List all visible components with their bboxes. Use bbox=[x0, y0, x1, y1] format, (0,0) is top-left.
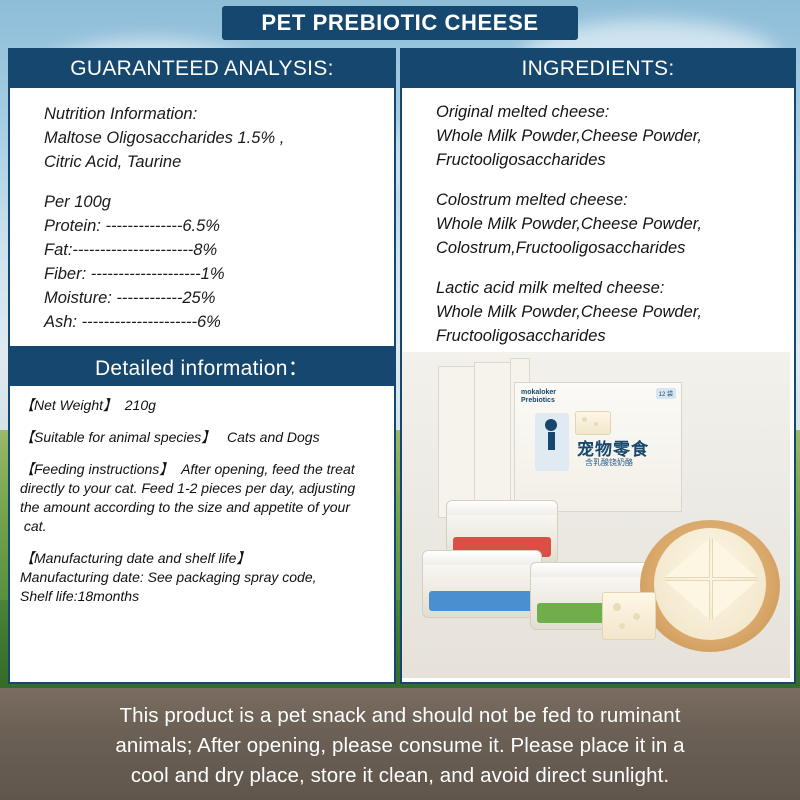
page-title: PET PREBIOTIC CHEESE bbox=[222, 6, 578, 40]
footer-line: This product is a pet snack and should n… bbox=[119, 701, 680, 731]
cheese-piece bbox=[575, 411, 611, 435]
guaranteed-analysis-heading: GUARANTEED ANALYSIS: bbox=[70, 57, 334, 81]
dog-icon bbox=[545, 419, 557, 431]
tin-lid bbox=[423, 551, 541, 565]
ingredient-line: Colostrum,Fructooligosaccharides bbox=[436, 236, 784, 260]
detail-item-lead: 【Feeding instructions】 After opening, fe… bbox=[20, 460, 384, 479]
ingredients-header: INGREDIENTS: bbox=[402, 50, 794, 88]
ingredient-line: Fructooligosaccharides bbox=[436, 324, 784, 348]
nutrient-row: Moisture: ------------25% bbox=[44, 286, 384, 310]
page-title-text: PET PREBIOTIC CHEESE bbox=[261, 10, 538, 36]
detailed-information-header: Detailed information： bbox=[10, 348, 394, 386]
ingredient-group-title: Colostrum melted cheese: bbox=[436, 188, 784, 212]
detailed-information-panel: Detailed information： 【Net Weight】 210g … bbox=[8, 346, 396, 684]
package-brand-text: mokaloker bbox=[521, 389, 556, 396]
detail-item: 【Suitable for animal species】 Cats and D… bbox=[20, 428, 384, 447]
detailed-information-heading: Detailed information： bbox=[95, 352, 309, 382]
footer-warning: This product is a pet snack and should n… bbox=[0, 692, 800, 800]
ingredient-group: Lactic acid milk melted cheese: Whole Mi… bbox=[436, 276, 784, 348]
detail-item: 【Net Weight】 210g bbox=[20, 396, 384, 415]
detail-item: 【Manufacturing date and shelf life】 Manu… bbox=[20, 549, 384, 606]
package-brand: mokaloker Prebiotics bbox=[521, 389, 556, 405]
ingredients-body: Original melted cheese: Whole Milk Powde… bbox=[402, 88, 794, 348]
ingredient-line: Whole Milk Powder,Cheese Powder, bbox=[436, 300, 784, 324]
footer-line: cool and dry place, store it clean, and … bbox=[131, 761, 669, 791]
ingredient-group: Original melted cheese: Whole Milk Powde… bbox=[436, 100, 784, 172]
package-brand-sub-text: Prebiotics bbox=[521, 397, 555, 404]
package-chinese-subtitle: 含乳酸铙奶酪 bbox=[585, 457, 633, 468]
guaranteed-analysis-header: GUARANTEED ANALYSIS: bbox=[10, 50, 394, 88]
dog-icon-body bbox=[548, 432, 555, 450]
nutrient-row: Ash: ---------------------6% bbox=[44, 310, 384, 334]
detail-item: 【Feeding instructions】 After opening, fe… bbox=[20, 460, 384, 536]
nutrition-info-line: Maltose Oligosaccharides 1.5% , bbox=[44, 126, 384, 150]
detail-item-rest: directly to your cat. Feed 1-2 pieces pe… bbox=[20, 479, 384, 536]
footer-line: animals; After opening, please consume i… bbox=[115, 731, 684, 761]
ingredient-group: Colostrum melted cheese: Whole Milk Powd… bbox=[436, 188, 784, 260]
detailed-information-body: 【Net Weight】 210g 【Suitable for animal s… bbox=[10, 386, 394, 625]
cheese-cube bbox=[602, 592, 656, 640]
spacer bbox=[44, 174, 384, 190]
nutrient-row: Protein: --------------6.5% bbox=[44, 214, 384, 238]
tin-lid bbox=[531, 563, 649, 577]
detail-item-rest: Manufacturing date: See packaging spray … bbox=[20, 568, 384, 606]
ingredient-line: Fructooligosaccharides bbox=[436, 148, 784, 172]
detail-item-lead: 【Net Weight】 210g bbox=[20, 396, 384, 415]
ingredient-group-title: Lactic acid milk melted cheese: bbox=[436, 276, 784, 300]
package-front: mokaloker Prebiotics 12 袋 宠物零食 含乳酸铙奶酪 bbox=[514, 382, 682, 512]
tin-lid bbox=[447, 501, 557, 515]
tin-label bbox=[429, 591, 535, 611]
detail-item-lead: 【Suitable for animal species】 Cats and D… bbox=[20, 428, 384, 447]
product-tin bbox=[422, 550, 542, 618]
guaranteed-analysis-body: Nutrition Information: Maltose Oligosacc… bbox=[10, 88, 394, 340]
ingredient-line: Whole Milk Powder,Cheese Powder, bbox=[436, 124, 784, 148]
nutrient-row: Fat:----------------------8% bbox=[44, 238, 384, 262]
nutrition-info-line: Citric Acid, Taurine bbox=[44, 150, 384, 174]
ingredient-line: Whole Milk Powder,Cheese Powder, bbox=[436, 212, 784, 236]
package-badge: 12 袋 bbox=[656, 388, 676, 399]
nutrient-row: Fiber: --------------------1% bbox=[44, 262, 384, 286]
ingredient-group-title: Original melted cheese: bbox=[436, 100, 784, 124]
detail-item-lead: 【Manufacturing date and shelf life】 bbox=[20, 549, 384, 568]
product-photo: mokaloker Prebiotics 12 袋 宠物零食 含乳酸铙奶酪 bbox=[402, 352, 790, 678]
nutrition-info-line: Nutrition Information: bbox=[44, 102, 384, 126]
per-100g-label: Per 100g bbox=[44, 190, 384, 214]
ingredients-heading: INGREDIENTS: bbox=[522, 57, 675, 81]
guaranteed-analysis-panel: GUARANTEED ANALYSIS: Nutrition Informati… bbox=[8, 48, 396, 348]
